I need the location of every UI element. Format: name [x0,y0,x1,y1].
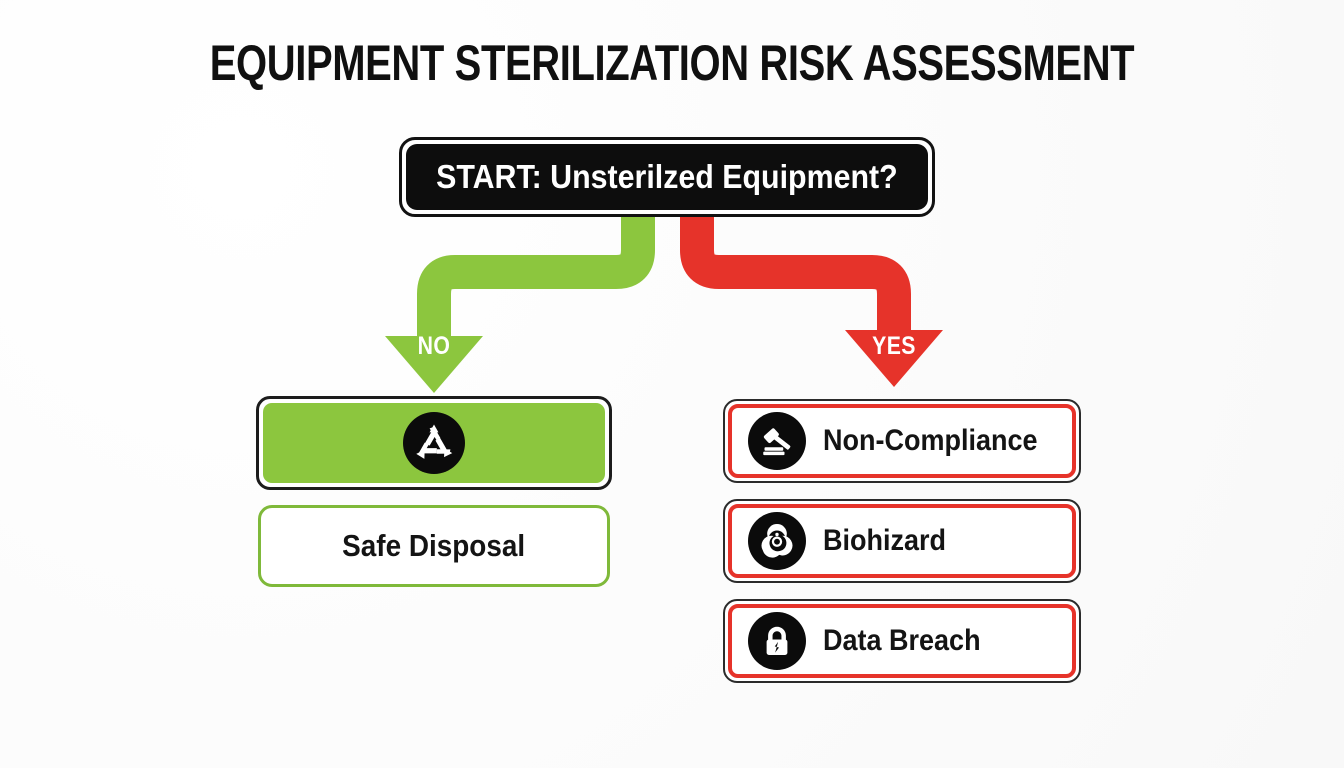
flowchart-canvas: EQUIPMENT STERILIZATION RISK ASSESSMENT … [0,0,1344,768]
biohazard-icon [748,512,806,570]
data-breach-label: Data Breach [823,624,981,658]
no-arrow-green [385,214,638,393]
safe-disposal-node[interactable]: Safe Disposal [258,505,610,587]
safe-disposal-label: Safe Disposal [343,528,526,564]
biohazard-node[interactable]: Biohizard [723,499,1081,583]
recycle-node-body [263,403,605,483]
non-compliance-node[interactable]: Non-Compliance [723,399,1081,483]
non-compliance-label: Non-Compliance [823,424,1038,458]
biohazard-label: Biohizard [823,524,946,558]
no-arrow-label: NO [409,332,460,361]
gavel-icon [748,412,806,470]
non-compliance-body: Non-Compliance [728,404,1076,478]
data-breach-node[interactable]: Data Breach [723,599,1081,683]
start-node-body: START: Unsterilzed Equipment? [406,144,928,210]
yes-arrow-red [697,214,943,387]
start-node-label: START: Unsterilzed Equipment? [436,158,898,196]
connector-arrows [0,0,1344,768]
start-node[interactable]: START: Unsterilzed Equipment? [399,137,935,217]
page-title: EQUIPMENT STERILIZATION RISK ASSESSMENT [134,34,1209,92]
padlock-breach-icon [748,612,806,670]
biohazard-body: Biohizard [728,504,1076,578]
data-breach-body: Data Breach [728,604,1076,678]
yes-arrow-label: YES [867,332,921,361]
recycle-icon [403,412,465,474]
recycle-node[interactable] [256,396,612,490]
